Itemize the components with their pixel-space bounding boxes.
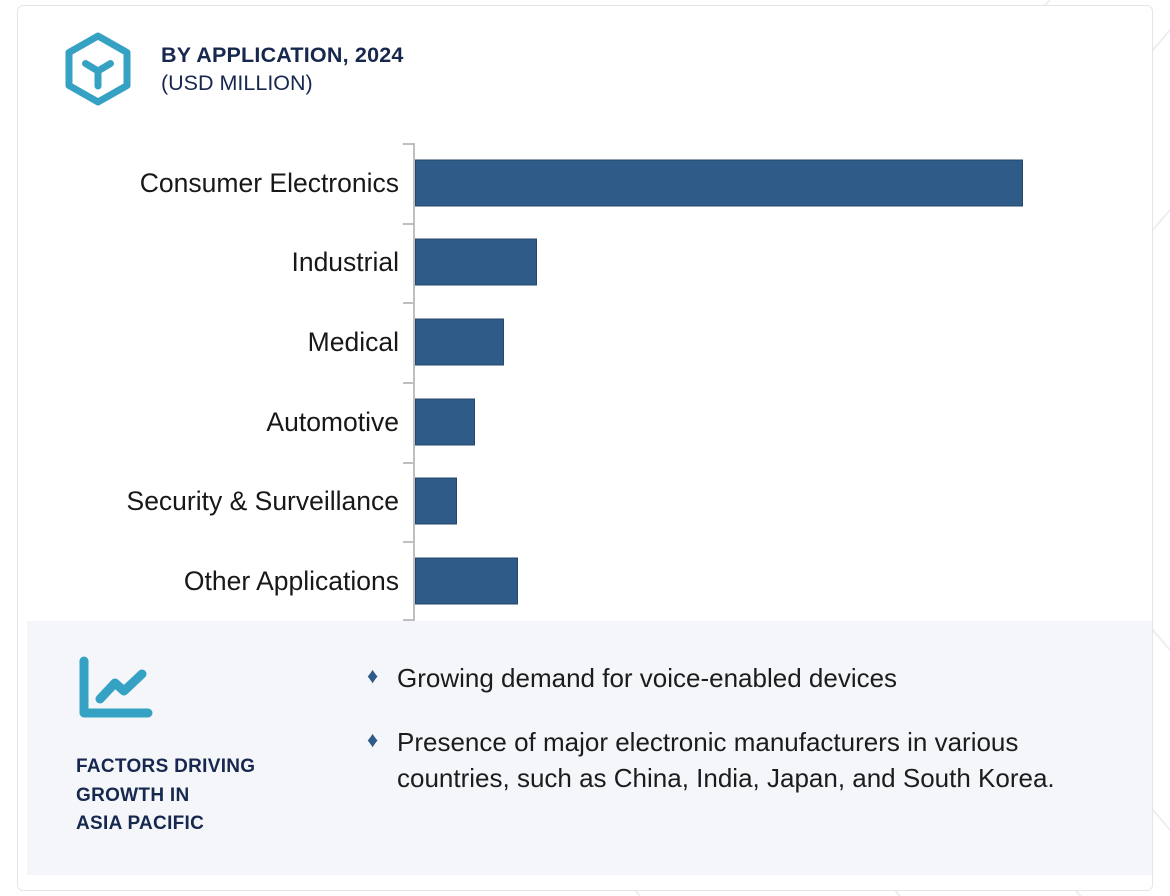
axis-tick xyxy=(403,462,414,464)
axis-end-tick xyxy=(403,143,414,145)
axis-tick xyxy=(403,541,414,543)
bullet-text: Presence of major electronic manufacture… xyxy=(397,725,1114,797)
bar-category-label: Security & Surveillance xyxy=(33,488,413,515)
bullet-item: ♦Presence of major electronic manufactur… xyxy=(367,725,1114,797)
diamond-bullet-icon: ♦ xyxy=(367,661,397,691)
bullet-item: ♦Growing demand for voice-enabled device… xyxy=(367,661,1114,697)
bar-other-applications xyxy=(415,558,518,605)
bar-category-label: Medical xyxy=(33,329,413,356)
bullet-text: Growing demand for voice-enabled devices xyxy=(397,661,897,697)
bar-category-label: Automotive xyxy=(33,409,413,436)
growth-factors-title-line1: FACTORS DRIVING xyxy=(76,753,367,782)
infographic-page: BY APPLICATION, 2024 (USD MILLION) Consu… xyxy=(0,0,1170,896)
bar-wrapper xyxy=(415,159,1023,206)
bar-category-label: Industrial xyxy=(33,249,413,276)
bar-wrapper xyxy=(415,558,518,605)
axis-tick xyxy=(403,223,414,225)
bar-chart: Consumer ElectronicsIndustrialMedicalAut… xyxy=(18,143,1153,621)
bar-row: Security & Surveillance xyxy=(18,462,1153,542)
header-text-block: BY APPLICATION, 2024 (USD MILLION) xyxy=(161,32,404,97)
bar-wrapper xyxy=(415,319,504,366)
bar-row: Consumer Electronics xyxy=(18,143,1153,223)
chart-header: BY APPLICATION, 2024 (USD MILLION) xyxy=(62,32,404,110)
page-subtitle: (USD MILLION) xyxy=(161,70,404,98)
bar-wrapper xyxy=(415,239,537,286)
growth-factors-title-line3: ASIA PACIFIC xyxy=(76,810,367,839)
bar-rows: Consumer ElectronicsIndustrialMedicalAut… xyxy=(18,143,1153,621)
bar-security-surveillance xyxy=(415,478,457,525)
bar-wrapper xyxy=(415,478,457,525)
page-title: BY APPLICATION, 2024 xyxy=(161,42,404,70)
bar-category-label: Other Applications xyxy=(33,568,413,595)
bar-wrapper xyxy=(415,398,475,445)
growth-factors-title: FACTORS DRIVING GROWTH IN ASIA PACIFIC xyxy=(76,753,367,839)
chart-card: BY APPLICATION, 2024 (USD MILLION) Consu… xyxy=(17,5,1153,891)
axis-tick xyxy=(403,382,414,384)
bar-medical xyxy=(415,319,504,366)
bar-automotive xyxy=(415,398,475,445)
diamond-bullet-icon: ♦ xyxy=(367,725,397,755)
hexagon-y-icon xyxy=(62,32,134,110)
bar-industrial xyxy=(415,239,537,286)
bar-row: Medical xyxy=(18,302,1153,382)
growth-factors-list: ♦Growing demand for voice-enabled device… xyxy=(367,621,1153,875)
bar-category-label: Consumer Electronics xyxy=(33,170,413,197)
growth-factors-left: FACTORS DRIVING GROWTH IN ASIA PACIFIC xyxy=(27,621,367,875)
bar-row: Other Applications xyxy=(18,541,1153,621)
bar-consumer-electronics xyxy=(415,159,1023,206)
line-chart-icon xyxy=(76,655,156,725)
bar-row: Industrial xyxy=(18,223,1153,303)
axis-tick xyxy=(403,302,414,304)
growth-factors-panel: FACTORS DRIVING GROWTH IN ASIA PACIFIC ♦… xyxy=(27,621,1153,875)
growth-factors-title-line2: GROWTH IN xyxy=(76,782,367,811)
bar-row: Automotive xyxy=(18,382,1153,462)
